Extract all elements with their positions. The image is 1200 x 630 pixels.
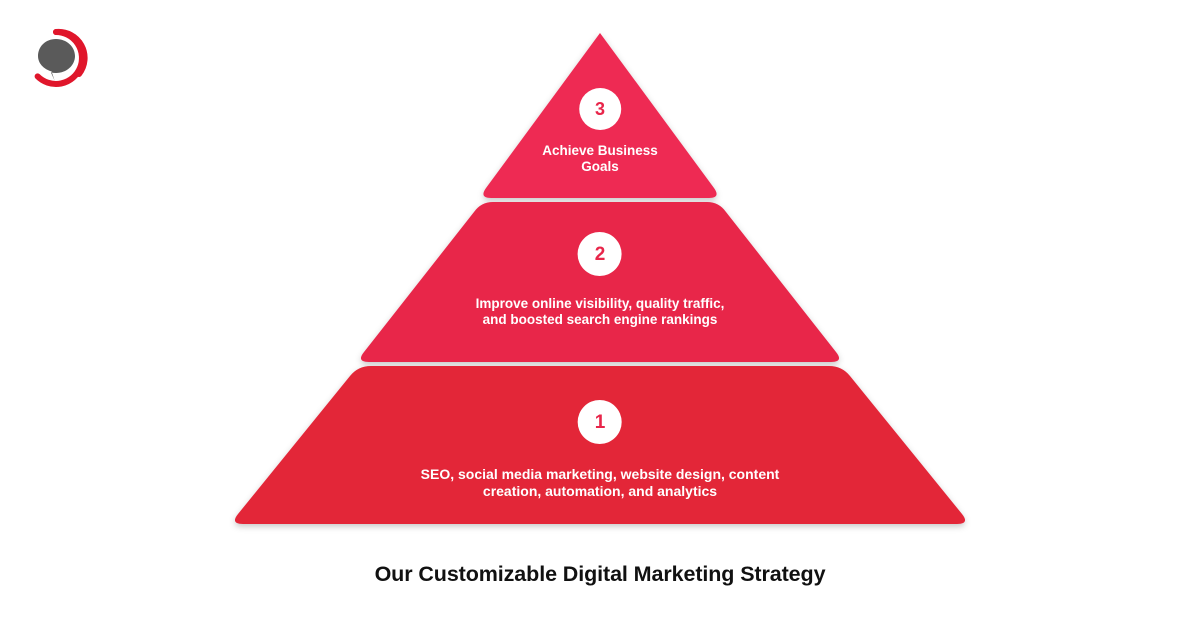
pyramid-tier-2-shape[interactable]: [361, 202, 839, 362]
pyramid-tier-1-shape[interactable]: [235, 366, 965, 524]
pyramid-svg: [0, 0, 1200, 560]
diagram-caption: Our Customizable Digital Marketing Strat…: [0, 562, 1200, 587]
pyramid-tier-3-shape[interactable]: [483, 33, 716, 198]
pyramid-diagram: 3 Achieve Business Goals 2 Improve onlin…: [0, 0, 1200, 560]
